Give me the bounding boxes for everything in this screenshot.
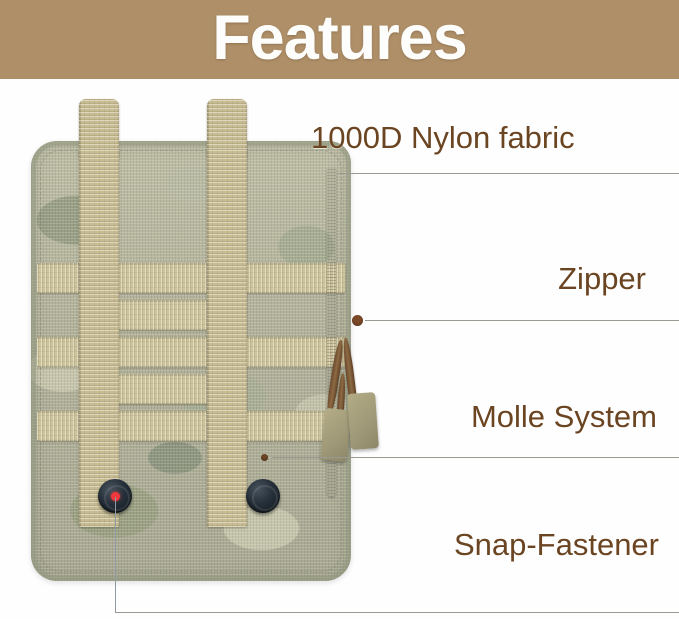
molle-strap-right (207, 149, 247, 527)
feature-label-snap: Snap-Fastener (454, 529, 659, 560)
leader-line-nylon (338, 173, 679, 174)
feature-label-molle: Molle System (471, 401, 657, 432)
infographic-body: 1000D Nylon fabric Zipper Molle System S… (0, 79, 679, 619)
page-title: Features (212, 7, 467, 70)
molle-attachment-tab (109, 300, 217, 330)
marker-dot-zipper (352, 315, 363, 326)
molle-attachment-tab (109, 374, 217, 404)
product-image-molle-pouch (31, 141, 351, 581)
features-header-banner: Features (0, 0, 679, 79)
feature-label-nylon: 1000D Nylon fabric (311, 122, 575, 153)
callout-line-snap-vertical (115, 497, 116, 613)
zipper-pull-tab[interactable] (347, 392, 379, 450)
snap-fastener-right[interactable] (246, 479, 280, 513)
zipper-pull-tab[interactable] (320, 408, 351, 462)
leader-line-molle (272, 457, 679, 458)
snap-ring (252, 485, 278, 511)
feature-label-zipper: Zipper (558, 263, 646, 294)
molle-strap-left (79, 149, 119, 527)
marker-dot-molle (261, 454, 268, 461)
callout-line-snap-horizontal (115, 612, 679, 613)
leader-line-zipper (365, 320, 679, 321)
